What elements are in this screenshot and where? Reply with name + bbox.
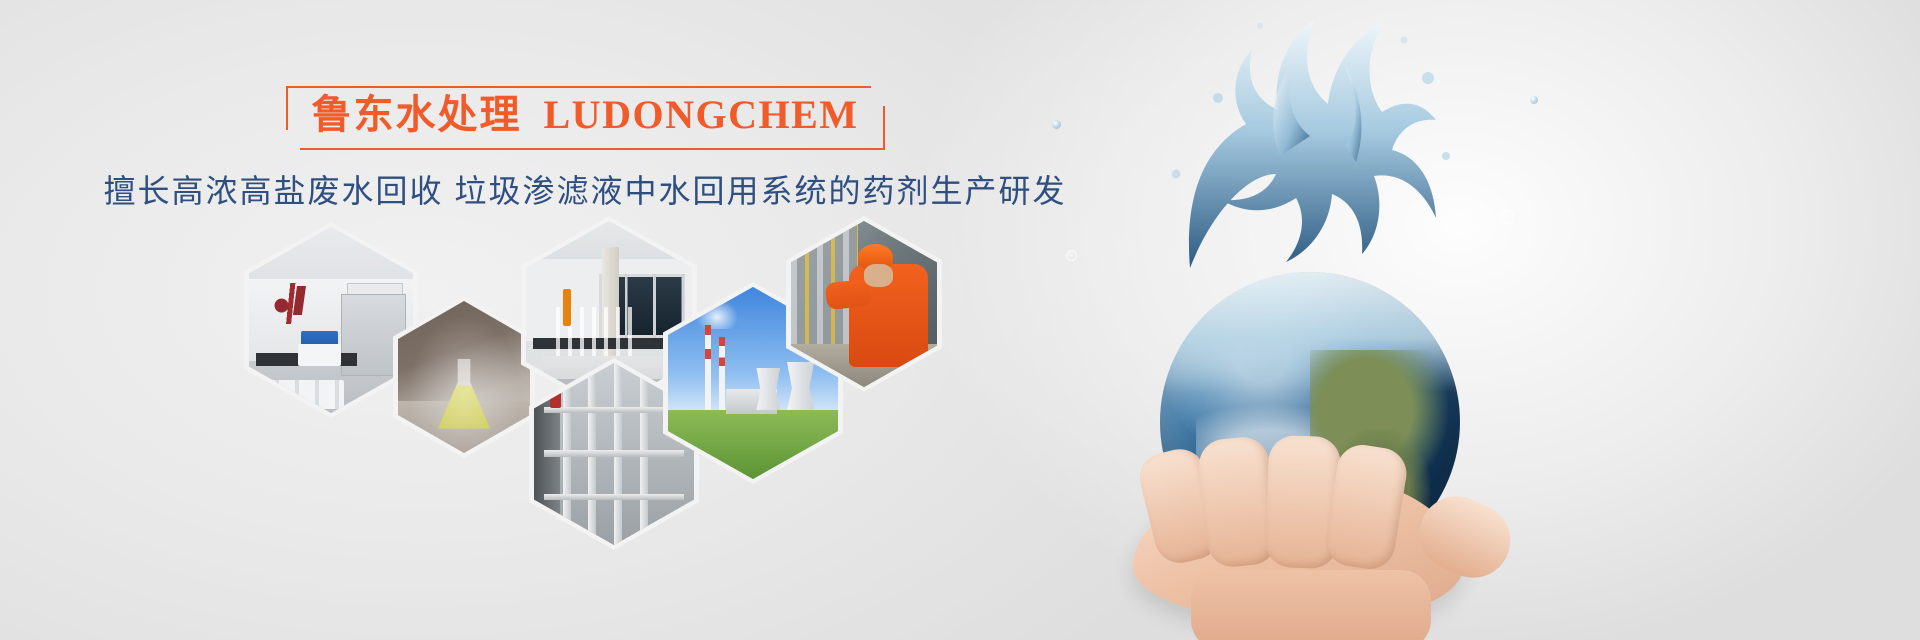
worker-arm <box>825 279 871 310</box>
title-rule-top <box>300 86 871 88</box>
title-rule-bottom <box>300 148 871 150</box>
title-english: LUDONGCHEM <box>544 92 859 137</box>
lab2-orange-stand <box>563 289 571 327</box>
title-chinese: 鲁东水处理 <box>312 92 522 137</box>
pair-of-hands <box>1095 430 1525 640</box>
plant-chimney-2 <box>719 337 725 410</box>
website-hero-banner: 鲁东水处理 LUDONGCHEM 擅长高浓高盐废水回收 垃圾渗滤液中水回用系统的… <box>0 0 1920 640</box>
water-bubble-1 <box>1500 210 1514 224</box>
bracket-bottom-right-vertical <box>883 106 885 150</box>
plant-chimney-1 <box>705 325 711 409</box>
page-subtitle: 擅长高浓高盐废水回收 垃圾渗滤液中水回用系统的药剂生产研发 <box>0 166 1170 212</box>
lab-white-instrument <box>298 344 341 366</box>
wrist <box>1191 570 1431 640</box>
water-droplet-2 <box>1530 96 1538 104</box>
banner-text-block: 鲁东水处理 LUDONGCHEM 擅长高浓高盐废水回收 垃圾渗滤液中水回用系统的… <box>0 86 1170 212</box>
wall-slogan-graphic <box>265 283 324 324</box>
title-line: 鲁东水处理 LUDONGCHEM <box>312 90 859 140</box>
water-splash-graphic <box>1160 6 1460 286</box>
page-title: 鲁东水处理 LUDONGCHEM <box>286 86 885 150</box>
bracket-bottom-right-horizontal <box>869 148 885 150</box>
pipe-horizontal-2 <box>544 450 685 456</box>
worker-face <box>864 264 893 287</box>
pipe-horizontal-3 <box>544 494 685 500</box>
bracket-top-left-vertical <box>286 86 288 130</box>
